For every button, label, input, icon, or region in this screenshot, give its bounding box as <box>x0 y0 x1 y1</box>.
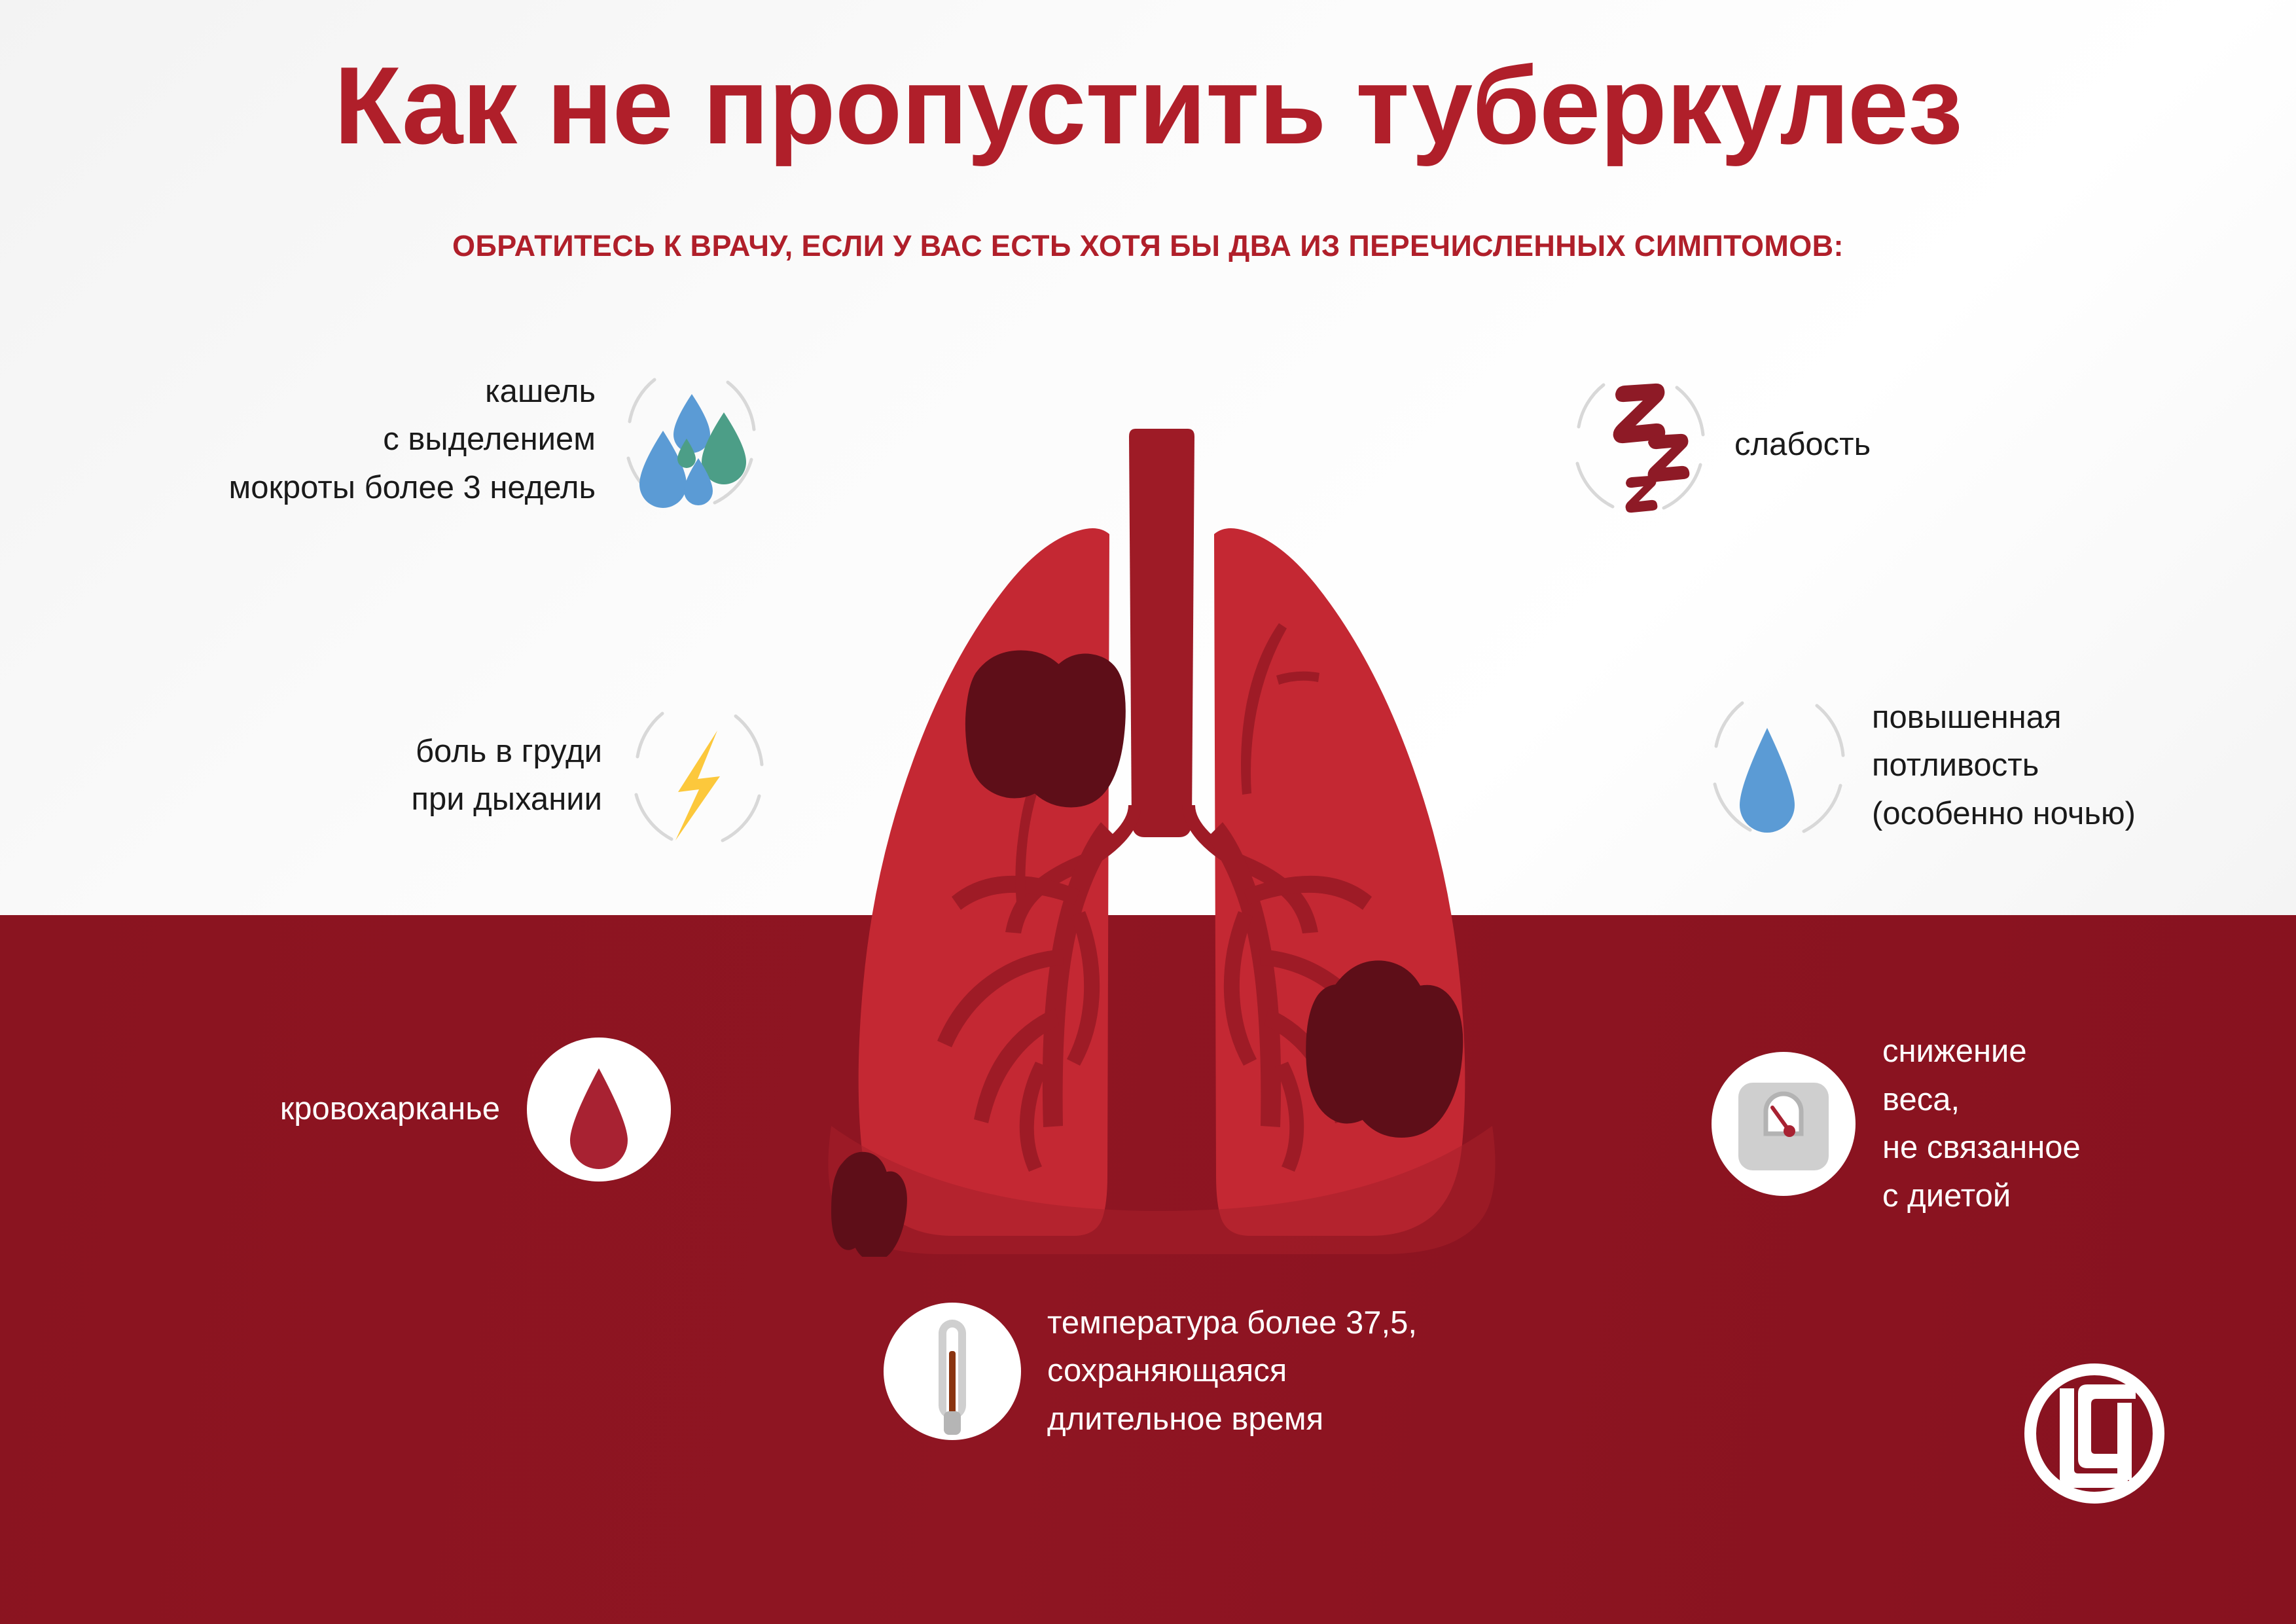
lungs-illustration <box>753 406 1571 1257</box>
page-subtitle: ОБРАТИТЕСЬ К ВРАЧУ, ЕСЛИ У ВАС ЕСТЬ ХОТЯ… <box>0 229 2296 263</box>
symptom-cough-label: кашель с выделением мокроты более 3 неде… <box>98 368 596 513</box>
organization-logo <box>2019 1358 2215 1555</box>
symptom-fever-line-2: сохраняющаяся <box>1047 1347 1417 1396</box>
lightning-bolt-icon <box>622 694 772 857</box>
symptom-chest-pain-label: боль в груди при дыхании <box>151 728 602 824</box>
page-title: Как не пропустить туберкулез <box>0 47 2296 164</box>
thermometer-icon <box>884 1296 1021 1447</box>
symptom-fever-line-3: длительное время <box>1047 1396 1417 1444</box>
infographic-poster: Как не пропустить туберкулез ОБРАТИТЕСЬ … <box>0 0 2296 1624</box>
sleep-zzz-icon <box>1564 367 1715 524</box>
blood-drop-icon <box>524 1034 674 1185</box>
water-droplets-icon <box>615 361 766 518</box>
symptom-sweating-line-3: (особенно ночью) <box>1872 790 2136 839</box>
symptom-hemoptysis-line-1: кровохарканье <box>151 1085 500 1134</box>
symptom-chest-pain: боль в груди при дыхании <box>151 694 792 857</box>
symptom-cough: кашель с выделением мокроты более 3 неде… <box>98 361 792 518</box>
symptom-weakness-line-1: слабость <box>1734 421 1871 469</box>
symptom-hemoptysis-label: кровохарканье <box>151 1085 500 1134</box>
symptom-weakness: слабость <box>1564 367 2225 524</box>
symptom-sweating-label: повышенная потливость (особенно ночью) <box>1872 694 2136 839</box>
symptom-hemoptysis: кровохарканье <box>151 1034 674 1185</box>
symptom-fever-label: температура более 37,5, сохраняющаяся дл… <box>1047 1299 1417 1444</box>
symptom-weight-loss: снижение веса, не связанное с диетой <box>1708 1028 2284 1220</box>
symptom-weight-loss-line-3: не связанное <box>1882 1124 2081 1172</box>
water-drop-icon <box>1702 681 1852 851</box>
symptom-weakness-label: слабость <box>1734 421 1871 469</box>
symptom-weight-loss-line-1: снижение <box>1882 1028 2081 1076</box>
symptom-weight-loss-line-2: веса, <box>1882 1076 2081 1125</box>
symptom-chest-pain-line-2: при дыхании <box>151 776 602 824</box>
symptom-cough-line-1: кашель <box>98 368 596 416</box>
symptom-sweating-line-1: повышенная <box>1872 694 2136 742</box>
symptom-weight-loss-line-4: с диетой <box>1882 1172 2081 1221</box>
symptom-weight-loss-label: снижение веса, не связанное с диетой <box>1882 1028 2081 1220</box>
symptom-fever: температура более 37,5, сохраняющаяся дл… <box>884 1296 1669 1447</box>
symptom-fever-line-1: температура более 37,5, <box>1047 1299 1417 1348</box>
symptom-chest-pain-line-1: боль в груди <box>151 728 602 776</box>
weight-scale-icon <box>1708 1049 1859 1199</box>
symptom-cough-line-3: мокроты более 3 недель <box>98 464 596 513</box>
symptom-cough-line-2: с выделением <box>98 416 596 464</box>
symptom-sweating: повышенная потливость (особенно ночью) <box>1702 681 2296 851</box>
symptom-sweating-line-2: потливость <box>1872 742 2136 790</box>
